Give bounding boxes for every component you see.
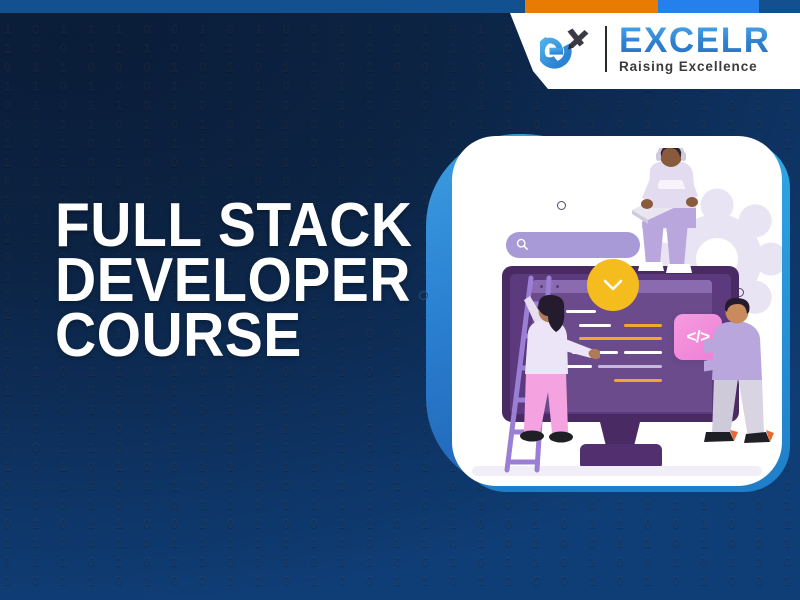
logo-divider (605, 26, 607, 72)
code-line (614, 379, 662, 382)
chevron-down-check-icon (601, 277, 625, 293)
decorative-circle-top (557, 201, 566, 210)
code-line (598, 365, 662, 368)
illustration-card: </> (452, 136, 782, 486)
code-line (598, 351, 618, 354)
decorative-circle-outer (419, 291, 428, 300)
headline-line-2: DEVELOPER (55, 253, 423, 308)
top-accent-bar-orange (525, 0, 658, 13)
brand-logo[interactable]: EXCELR Raising Excellence (540, 20, 771, 78)
full-stack-development-illustration: </> (420, 118, 800, 508)
brand-name: EXCELR (619, 24, 771, 58)
excelr-e-x-logo-icon (540, 27, 596, 71)
page-title: FULL STACK DEVELOPER COURSE (55, 198, 455, 363)
search-icon (516, 238, 529, 251)
code-line (624, 324, 662, 327)
person-holding-code-card (704, 296, 782, 481)
brand-text: EXCELR Raising Excellence (619, 24, 771, 75)
search-input[interactable] (506, 232, 640, 258)
brand-tagline: Raising Excellence (619, 59, 771, 75)
person-on-ladder (508, 286, 600, 471)
headline-line-3: COURSE (55, 308, 423, 363)
person-sitting-with-laptop (630, 148, 726, 293)
headline-line-1: FULL STACK (55, 198, 423, 253)
promo-banner: 1 0 1 1 1 0 0 1 0 1 0 0 1 1 0 1 0 1 0 0 … (0, 0, 800, 600)
code-line (624, 351, 662, 354)
top-accent-bar-blue (658, 0, 759, 13)
